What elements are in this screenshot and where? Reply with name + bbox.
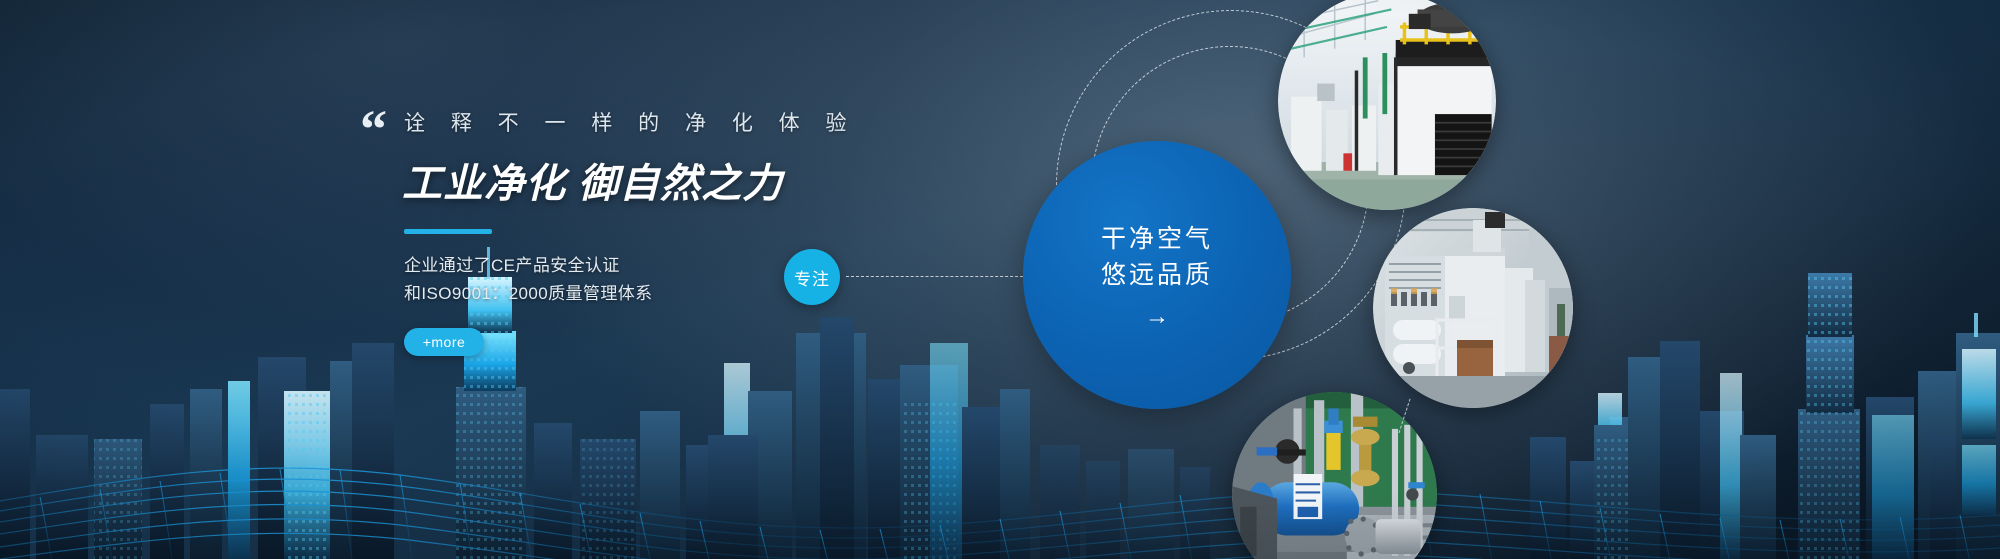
hero-banner: “ 诠 释 不 一 样 的 净 化 体 验 工业净化 御自然之力 企业通过了CE…: [0, 0, 2000, 559]
arrow-right-icon: →: [1145, 305, 1169, 329]
dashed-connector-line: [846, 276, 1028, 278]
accent-rule: [404, 229, 492, 234]
more-button[interactable]: +more: [404, 328, 484, 356]
hero-copy: “ 诠 释 不 一 样 的 净 化 体 验 工业净化 御自然之力 企业通过了CE…: [352, 112, 912, 356]
photo-circle-factory-workshop[interactable]: [1278, 0, 1496, 210]
photo-circle-textile-machinery[interactable]: [1373, 208, 1573, 408]
quote-mark-icon: “: [360, 102, 385, 156]
cityscape-graphic: [0, 239, 2000, 559]
main-circle-line-1: 干净空气: [1101, 221, 1213, 257]
hero-eyebrow: 诠 释 不 一 样 的 净 化 体 验: [404, 112, 912, 135]
main-cta-circle[interactable]: 干净空气 悠远品质 →: [1023, 141, 1291, 409]
main-circle-line-2: 悠远品质: [1101, 257, 1213, 293]
hero-headline: 工业净化 御自然之力: [402, 151, 912, 209]
focus-badge[interactable]: 专注: [784, 249, 840, 305]
